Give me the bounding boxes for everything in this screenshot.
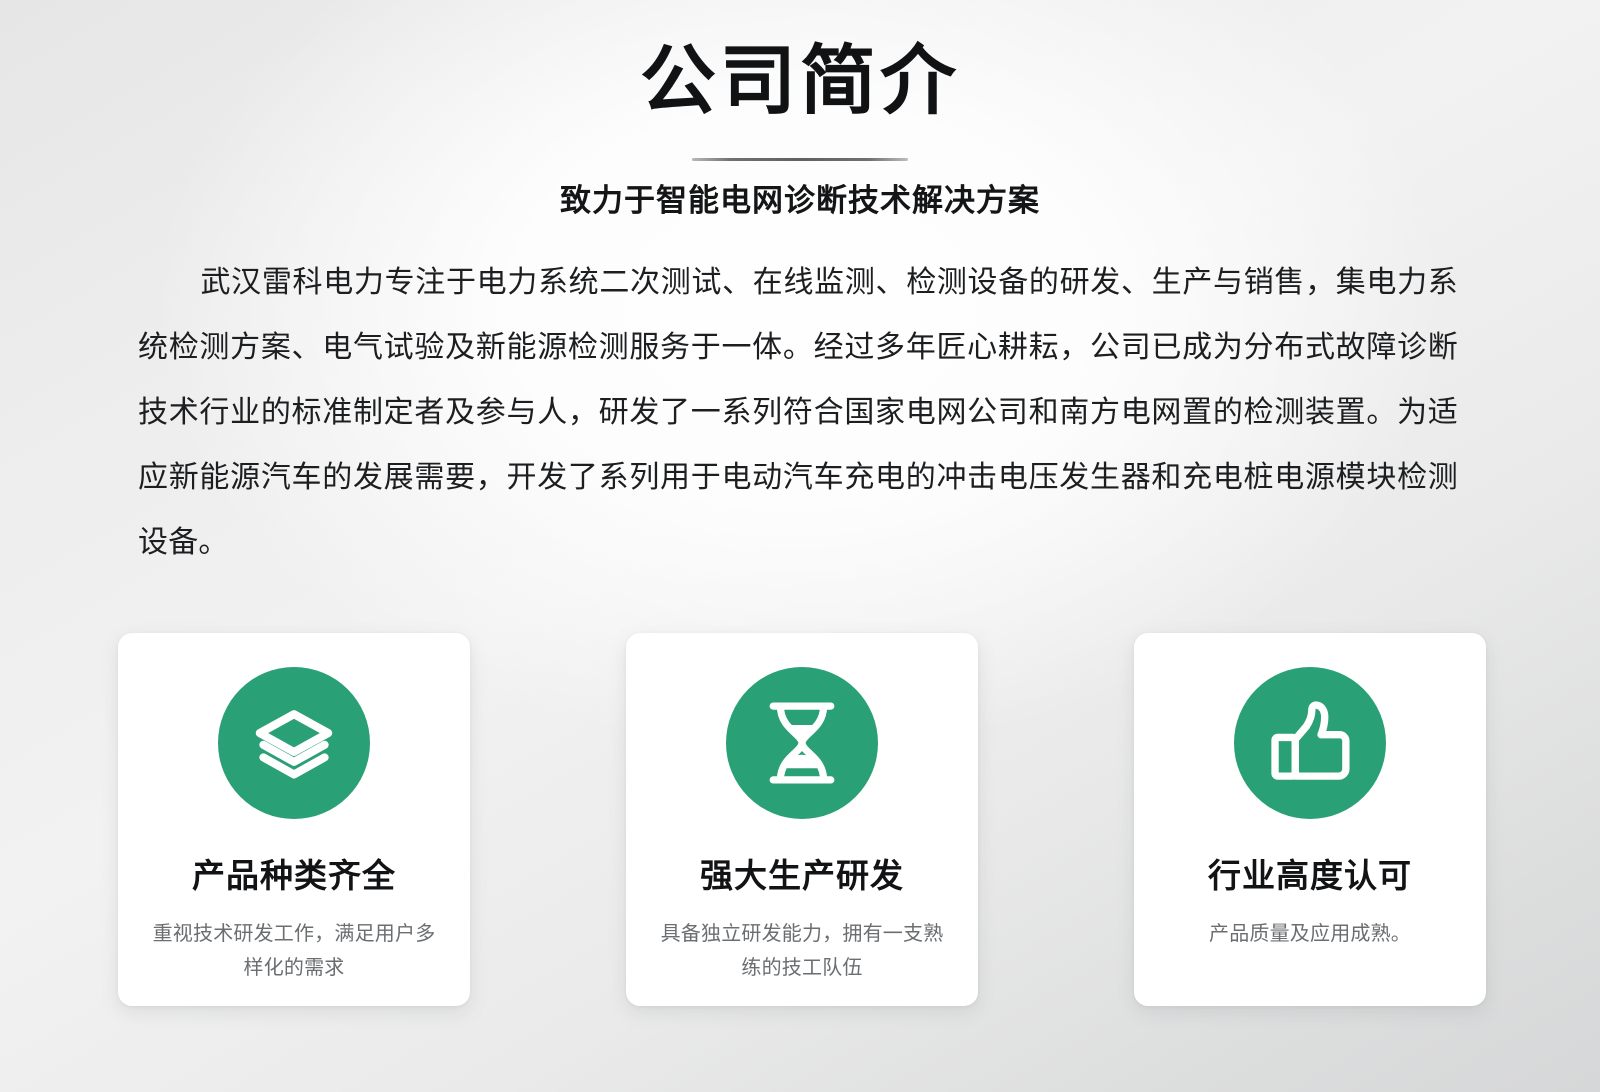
feature-card-description: 具备独立研发能力，拥有一支熟练的技工队伍	[652, 896, 952, 985]
feature-card-title: 行业高度认可	[1208, 819, 1412, 896]
feature-card-description: 重视技术研发工作，满足用户多样化的需求	[144, 896, 444, 985]
feature-card-title: 强大生产研发	[700, 819, 904, 896]
company-intro-page: 公司简介 致力于智能电网诊断技术解决方案 武汉雷科电力专注于电力系统二次测试、在…	[0, 0, 1600, 1092]
hourglass-icon	[726, 667, 878, 819]
layers-icon	[218, 667, 370, 819]
company-intro-paragraph: 武汉雷科电力专注于电力系统二次测试、在线监测、检测设备的研发、生产与销售，集电力…	[138, 250, 1458, 575]
paragraph-text: 武汉雷科电力专注于电力系统二次测试、在线监测、检测设备的研发、生产与销售，集电力…	[138, 266, 1458, 559]
feature-card-list: 产品种类齐全 重视技术研发工作，满足用户多样化的需求 强大生产研发 具备独立	[118, 633, 1486, 1006]
feature-card-rnd-capability[interactable]: 强大生产研发 具备独立研发能力，拥有一支熟练的技工队伍	[626, 633, 978, 1006]
thumbs-up-icon	[1234, 667, 1386, 819]
feature-card-title: 产品种类齐全	[192, 819, 396, 896]
feature-card-product-range[interactable]: 产品种类齐全 重视技术研发工作，满足用户多样化的需求	[118, 633, 470, 1006]
feature-card-industry-recognition[interactable]: 行业高度认可 产品质量及应用成熟。	[1134, 633, 1486, 1006]
page-title: 公司简介	[0, 0, 1600, 120]
feature-card-description: 产品质量及应用成熟。	[1160, 896, 1460, 951]
page-subtitle: 致力于智能电网诊断技术解决方案	[0, 161, 1600, 221]
page-header: 公司简介 致力于智能电网诊断技术解决方案	[0, 0, 1600, 221]
